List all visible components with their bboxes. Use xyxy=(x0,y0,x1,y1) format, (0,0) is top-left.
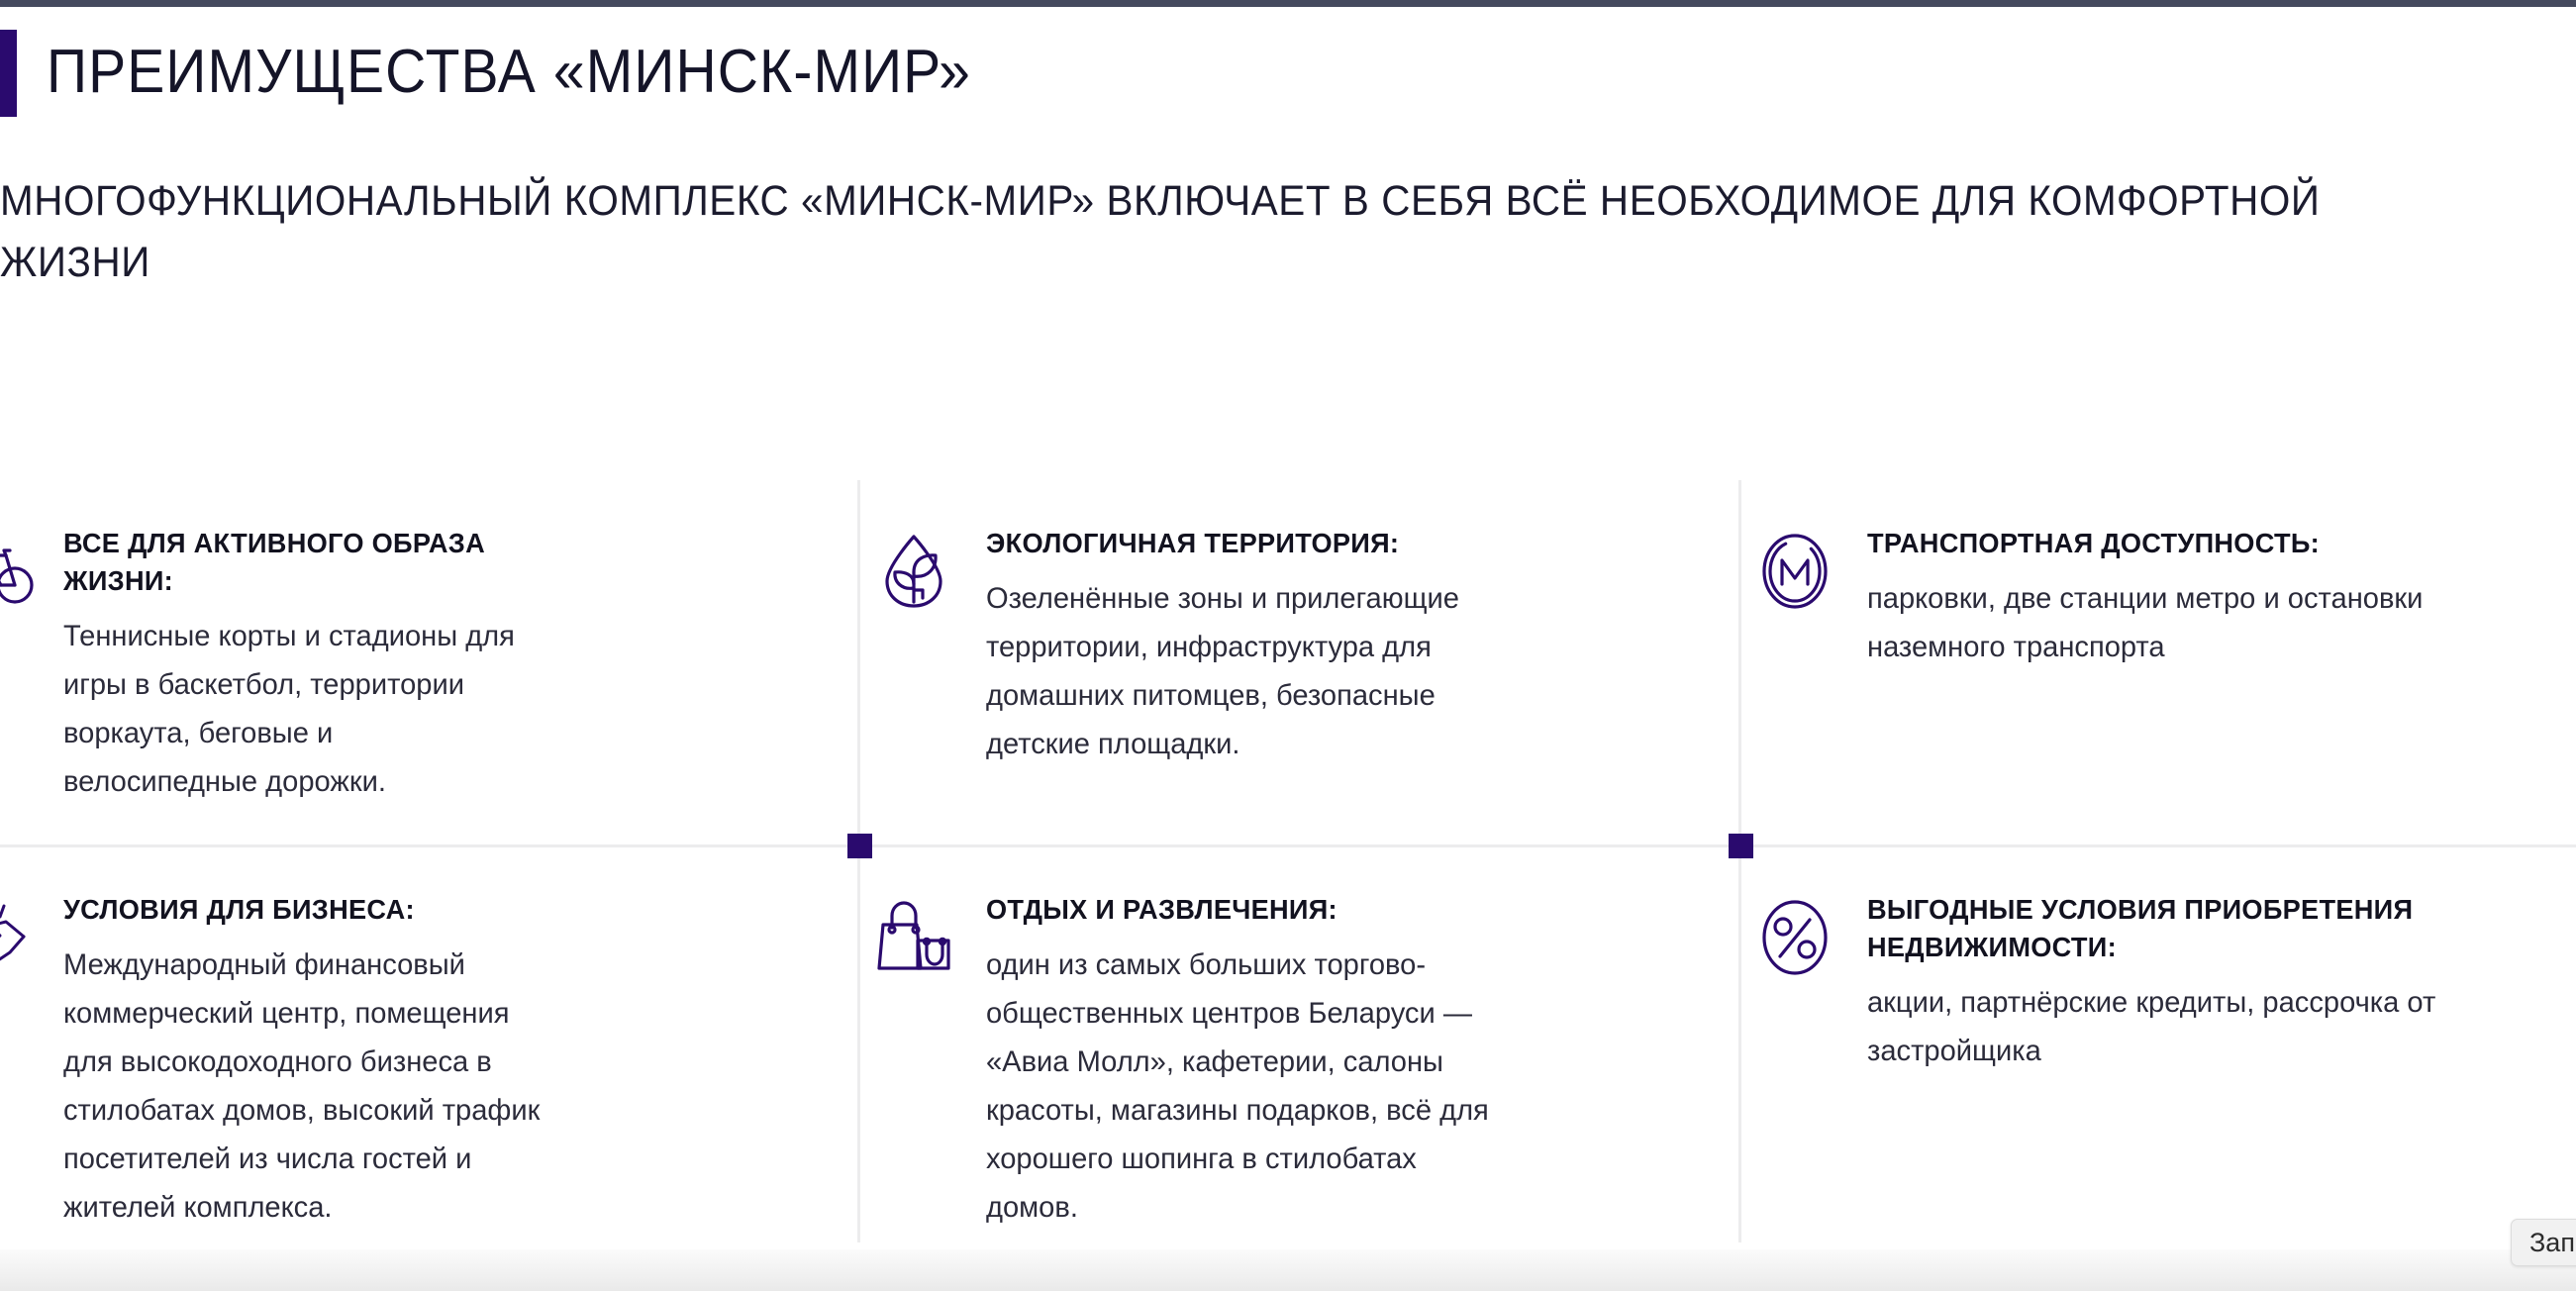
grid-divider-vertical-1 xyxy=(857,480,860,1242)
advantage-card-title: ТРАНСПОРТНАЯ ДОСТУПНОСТЬ: xyxy=(1867,525,2543,562)
shopping-bag-icon xyxy=(871,895,956,980)
page-title: ПРЕИМУЩЕСТВА «МИНСК-МИР» xyxy=(47,26,971,119)
advantage-card-eco-territory: ЭКОЛОГИЧНАЯ ТЕРРИТОРИЯ: Озеленённые зоны… xyxy=(871,525,1505,768)
advantage-card-body: ЭКОЛОГИЧНАЯ ТЕРРИТОРИЯ: Озеленённые зоны… xyxy=(986,525,1505,768)
page-subtitle: МНОГОФУНКЦИОНАЛЬНЫЙ КОМПЛЕКС «МИНСК-МИР»… xyxy=(0,170,2411,293)
advantage-card-purchase-terms: ВЫГОДНЫЕ УСЛОВИЯ ПРИОБРЕТЕНИЯ НЕДВИЖИМОС… xyxy=(1752,891,2564,1075)
advantage-card-transport: ТРАНСПОРТНАЯ ДОСТУПНОСТЬ: парковки, две … xyxy=(1752,525,2564,671)
advantage-card-body: ВСЕ ДЛЯ АКТИВНОГО ОБРАЗА ЖИЗНИ: Теннисны… xyxy=(63,525,543,806)
bicycle-icon xyxy=(0,529,34,614)
grid-intersection-marker-1 xyxy=(847,834,872,858)
metro-icon xyxy=(1752,529,1837,614)
advantage-card-title: ЭКОЛОГИЧНАЯ ТЕРРИТОРИЯ: xyxy=(986,525,1489,562)
advantage-card-text: один из самых больших торгово-общественн… xyxy=(986,941,1509,1232)
page-heading: ПРЕИМУЩЕСТВА «МИНСК-МИР» xyxy=(0,26,2576,121)
grid-intersection-marker-2 xyxy=(1729,834,1753,858)
floating-action-button[interactable]: Зап xyxy=(2511,1219,2576,1266)
advantage-card-text: Теннисные корты и стадионы для игры в ба… xyxy=(63,612,528,806)
advantage-card-active-lifestyle: ВСЕ ДЛЯ АКТИВНОГО ОБРАЗА ЖИЗНИ: Теннисны… xyxy=(0,525,543,806)
advantage-card-text: парковки, две станции метро и остановки … xyxy=(1867,574,2543,671)
advantage-card-body: ВЫГОДНЫЕ УСЛОВИЯ ПРИОБРЕТЕНИЯ НЕДВИЖИМОС… xyxy=(1867,891,2564,1075)
advantage-card-body: ТРАНСПОРТНАЯ ДОСТУПНОСТЬ: парковки, две … xyxy=(1867,525,2564,671)
advantage-card-leisure: ОТДЫХ И РАЗВЛЕЧЕНИЯ: один из самых больш… xyxy=(871,891,1525,1232)
advantage-card-body: ОТДЫХ И РАЗВЛЕЧЕНИЯ: один из самых больш… xyxy=(986,891,1525,1232)
advantage-card-title: ОТДЫХ И РАЗВЛЕЧЕНИЯ: xyxy=(986,891,1509,929)
advantage-card-text: Международный финансовый коммерческий це… xyxy=(63,941,547,1232)
advantages-grid: ВСЕ ДЛЯ АКТИВНОГО ОБРАЗА ЖИЗНИ: Теннисны… xyxy=(0,480,2576,1242)
advantage-card-text: Озеленённые зоны и прилегающие территори… xyxy=(986,574,1489,768)
advantage-card-title: ВСЕ ДЛЯ АКТИВНОГО ОБРАЗА ЖИЗНИ: xyxy=(63,525,528,600)
handshake-icon xyxy=(0,895,34,980)
bottom-overlay-bar xyxy=(0,1249,2576,1291)
advantage-card-text: акции, партнёрские кредиты, рассрочка от… xyxy=(1867,978,2543,1075)
grid-divider-vertical-2 xyxy=(1738,480,1741,1242)
eco-droplet-leaf-icon xyxy=(871,529,956,614)
advantage-card-title: ВЫГОДНЫЕ УСЛОВИЯ ПРИОБРЕТЕНИЯ НЕДВИЖИМОС… xyxy=(1867,891,2543,966)
advantage-card-title: УСЛОВИЯ ДЛЯ БИЗНЕСА: xyxy=(63,891,547,929)
percent-icon xyxy=(1752,895,1837,980)
advantage-card-body: УСЛОВИЯ ДЛЯ БИЗНЕСА: Международный финан… xyxy=(63,891,562,1232)
title-accent-bar xyxy=(0,30,17,117)
advantage-card-business: УСЛОВИЯ ДЛЯ БИЗНЕСА: Международный финан… xyxy=(0,891,562,1232)
grid-divider-horizontal xyxy=(0,844,2576,847)
page-root: ПРЕИМУЩЕСТВА «МИНСК-МИР» МНОГОФУНКЦИОНАЛ… xyxy=(0,0,2576,1291)
browser-top-strip xyxy=(0,0,2576,7)
